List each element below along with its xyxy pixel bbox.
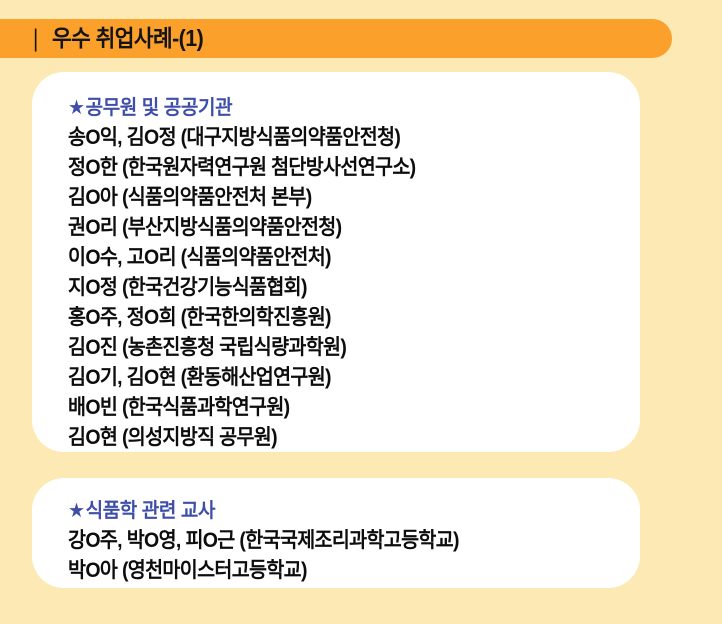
list-item: 송O익, 김O정 (대구지방식품의약품안전청) [68, 123, 600, 153]
list-item: 권O리 (부산지방식품의약품안전청) [68, 213, 600, 243]
group-heading-label: 식품학 관련 교사 [86, 500, 216, 522]
list-item: 김O기, 김O현 (환동해산업연구원) [68, 363, 600, 393]
list-item: 정O한 (한국원자력연구원 첨단방사선연구소) [68, 153, 600, 183]
slide-page: ❘ 우수 취업사례-(1) ★공무원 및 공공기관 송O익, 김O정 (대구지방… [0, 0, 722, 624]
list-item: 박O아 (영천마이스터고등학교) [68, 556, 600, 586]
card-food-science-teachers: ★식품학 관련 교사 강O주, 박O영, 피O근 (한국국제조리과학고등학교) … [32, 478, 640, 588]
section-header-banner: ❘ 우수 취업사례-(1) [0, 19, 672, 58]
page-title: 우수 취업사례-(1) [52, 27, 203, 50]
list-item: 김O현 (의성지방직 공무원) [68, 423, 600, 453]
list-item: 김O아 (식품의약품안전처 본부) [68, 183, 600, 213]
list-item: 지O정 (한국건강기능식품협회) [68, 273, 600, 303]
list-item: 김O진 (농촌진흥청 국립식량과학원) [68, 333, 600, 363]
vertical-bar-icon: ❘ [27, 27, 43, 50]
list-item: 이O수, 고O리 (식품의약품안전처) [68, 243, 600, 273]
header-content: ❘ 우수 취업사례-(1) [0, 27, 215, 50]
group-heading-public-sector: ★공무원 및 공공기관 [68, 93, 611, 123]
star-icon: ★ [68, 496, 85, 526]
list-item: 강O주, 박O영, 피O근 (한국국제조리과학고등학교) [68, 526, 600, 556]
entry-list-public-sector: 송O익, 김O정 (대구지방식품의약품안전청) 정O한 (한국원자력연구원 첨단… [68, 123, 640, 453]
card-public-sector: ★공무원 및 공공기관 송O익, 김O정 (대구지방식품의약품안전청) 정O한 … [32, 72, 640, 452]
list-item: 배O빈 (한국식품과학연구원) [68, 393, 600, 423]
entry-list-food-science-teachers: 강O주, 박O영, 피O근 (한국국제조리과학고등학교) 박O아 (영천마이스터… [68, 526, 640, 586]
list-item: 홍O주, 정O희 (한국한의학진흥원) [68, 303, 600, 333]
group-heading-label: 공무원 및 공공기관 [86, 97, 233, 119]
group-heading-food-science-teachers: ★식품학 관련 교사 [68, 496, 611, 526]
star-icon: ★ [68, 93, 85, 123]
